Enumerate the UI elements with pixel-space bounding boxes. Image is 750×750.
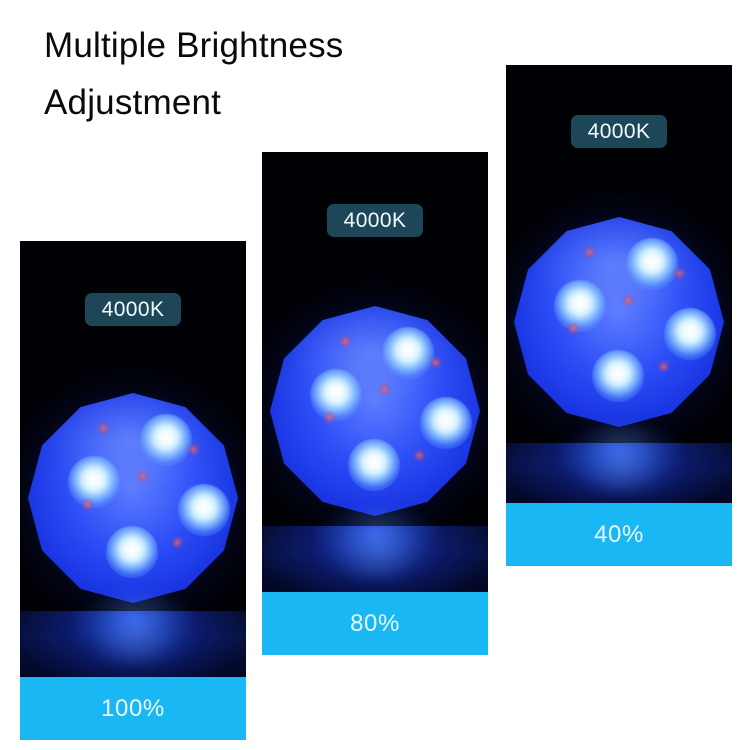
- red-emitter-icon: [584, 247, 595, 258]
- red-emitter-icon: [568, 323, 579, 334]
- red-emitter-icon: [137, 471, 148, 482]
- red-emitter-icon: [98, 423, 109, 434]
- led-hotspot-icon: [554, 280, 606, 332]
- brightness-value-label: 80%: [350, 610, 400, 638]
- led-hotspot-icon: [140, 414, 192, 466]
- red-emitter-icon: [674, 268, 685, 279]
- brightness-footer-bar: 40%: [506, 503, 732, 566]
- led-hotspot-icon: [348, 439, 400, 491]
- reflection-spot: [552, 425, 692, 493]
- led-hotspot-icon: [664, 308, 716, 360]
- color-temperature-badge: 4000K: [571, 115, 667, 148]
- led-hotspot-icon: [420, 397, 472, 449]
- red-emitter-icon: [414, 450, 425, 461]
- brightness-footer-bar: 100%: [20, 677, 246, 740]
- red-emitter-icon: [82, 499, 93, 510]
- lamp-reflection: [506, 443, 732, 503]
- reflection-spot: [308, 508, 448, 580]
- led-hotspot-icon: [68, 456, 120, 508]
- led-hotspot-icon: [592, 350, 644, 402]
- product-feature-image: Multiple Brightness Adjustment 4000K 100…: [0, 0, 750, 750]
- led-hotspot-icon: [382, 327, 434, 379]
- red-emitter-icon: [188, 444, 199, 455]
- red-emitter-icon: [430, 357, 441, 368]
- brightness-panel-40: 4000K 40%: [506, 65, 732, 566]
- red-emitter-icon: [324, 412, 335, 423]
- red-emitter-icon: [623, 295, 634, 306]
- led-hotspot-icon: [626, 238, 678, 290]
- brightness-panel-100: 4000K 100%: [20, 241, 246, 740]
- red-emitter-icon: [172, 537, 183, 548]
- lamp-reflection: [20, 611, 246, 677]
- page-title: Multiple Brightness Adjustment: [44, 18, 464, 131]
- brightness-footer-bar: 80%: [262, 592, 488, 655]
- red-emitter-icon: [379, 384, 390, 395]
- brightness-panel-80: 4000K 80%: [262, 152, 488, 655]
- red-emitter-icon: [340, 336, 351, 347]
- color-temperature-badge: 4000K: [85, 293, 181, 326]
- brightness-value-label: 40%: [594, 521, 644, 549]
- brightness-value-label: 100%: [101, 695, 165, 723]
- led-hotspot-icon: [310, 369, 362, 421]
- red-emitter-icon: [658, 361, 669, 372]
- led-hotspot-icon: [178, 484, 230, 536]
- lamp-reflection: [262, 526, 488, 592]
- color-temperature-badge: 4000K: [327, 204, 423, 237]
- led-hotspot-icon: [106, 526, 158, 578]
- reflection-spot: [66, 593, 206, 665]
